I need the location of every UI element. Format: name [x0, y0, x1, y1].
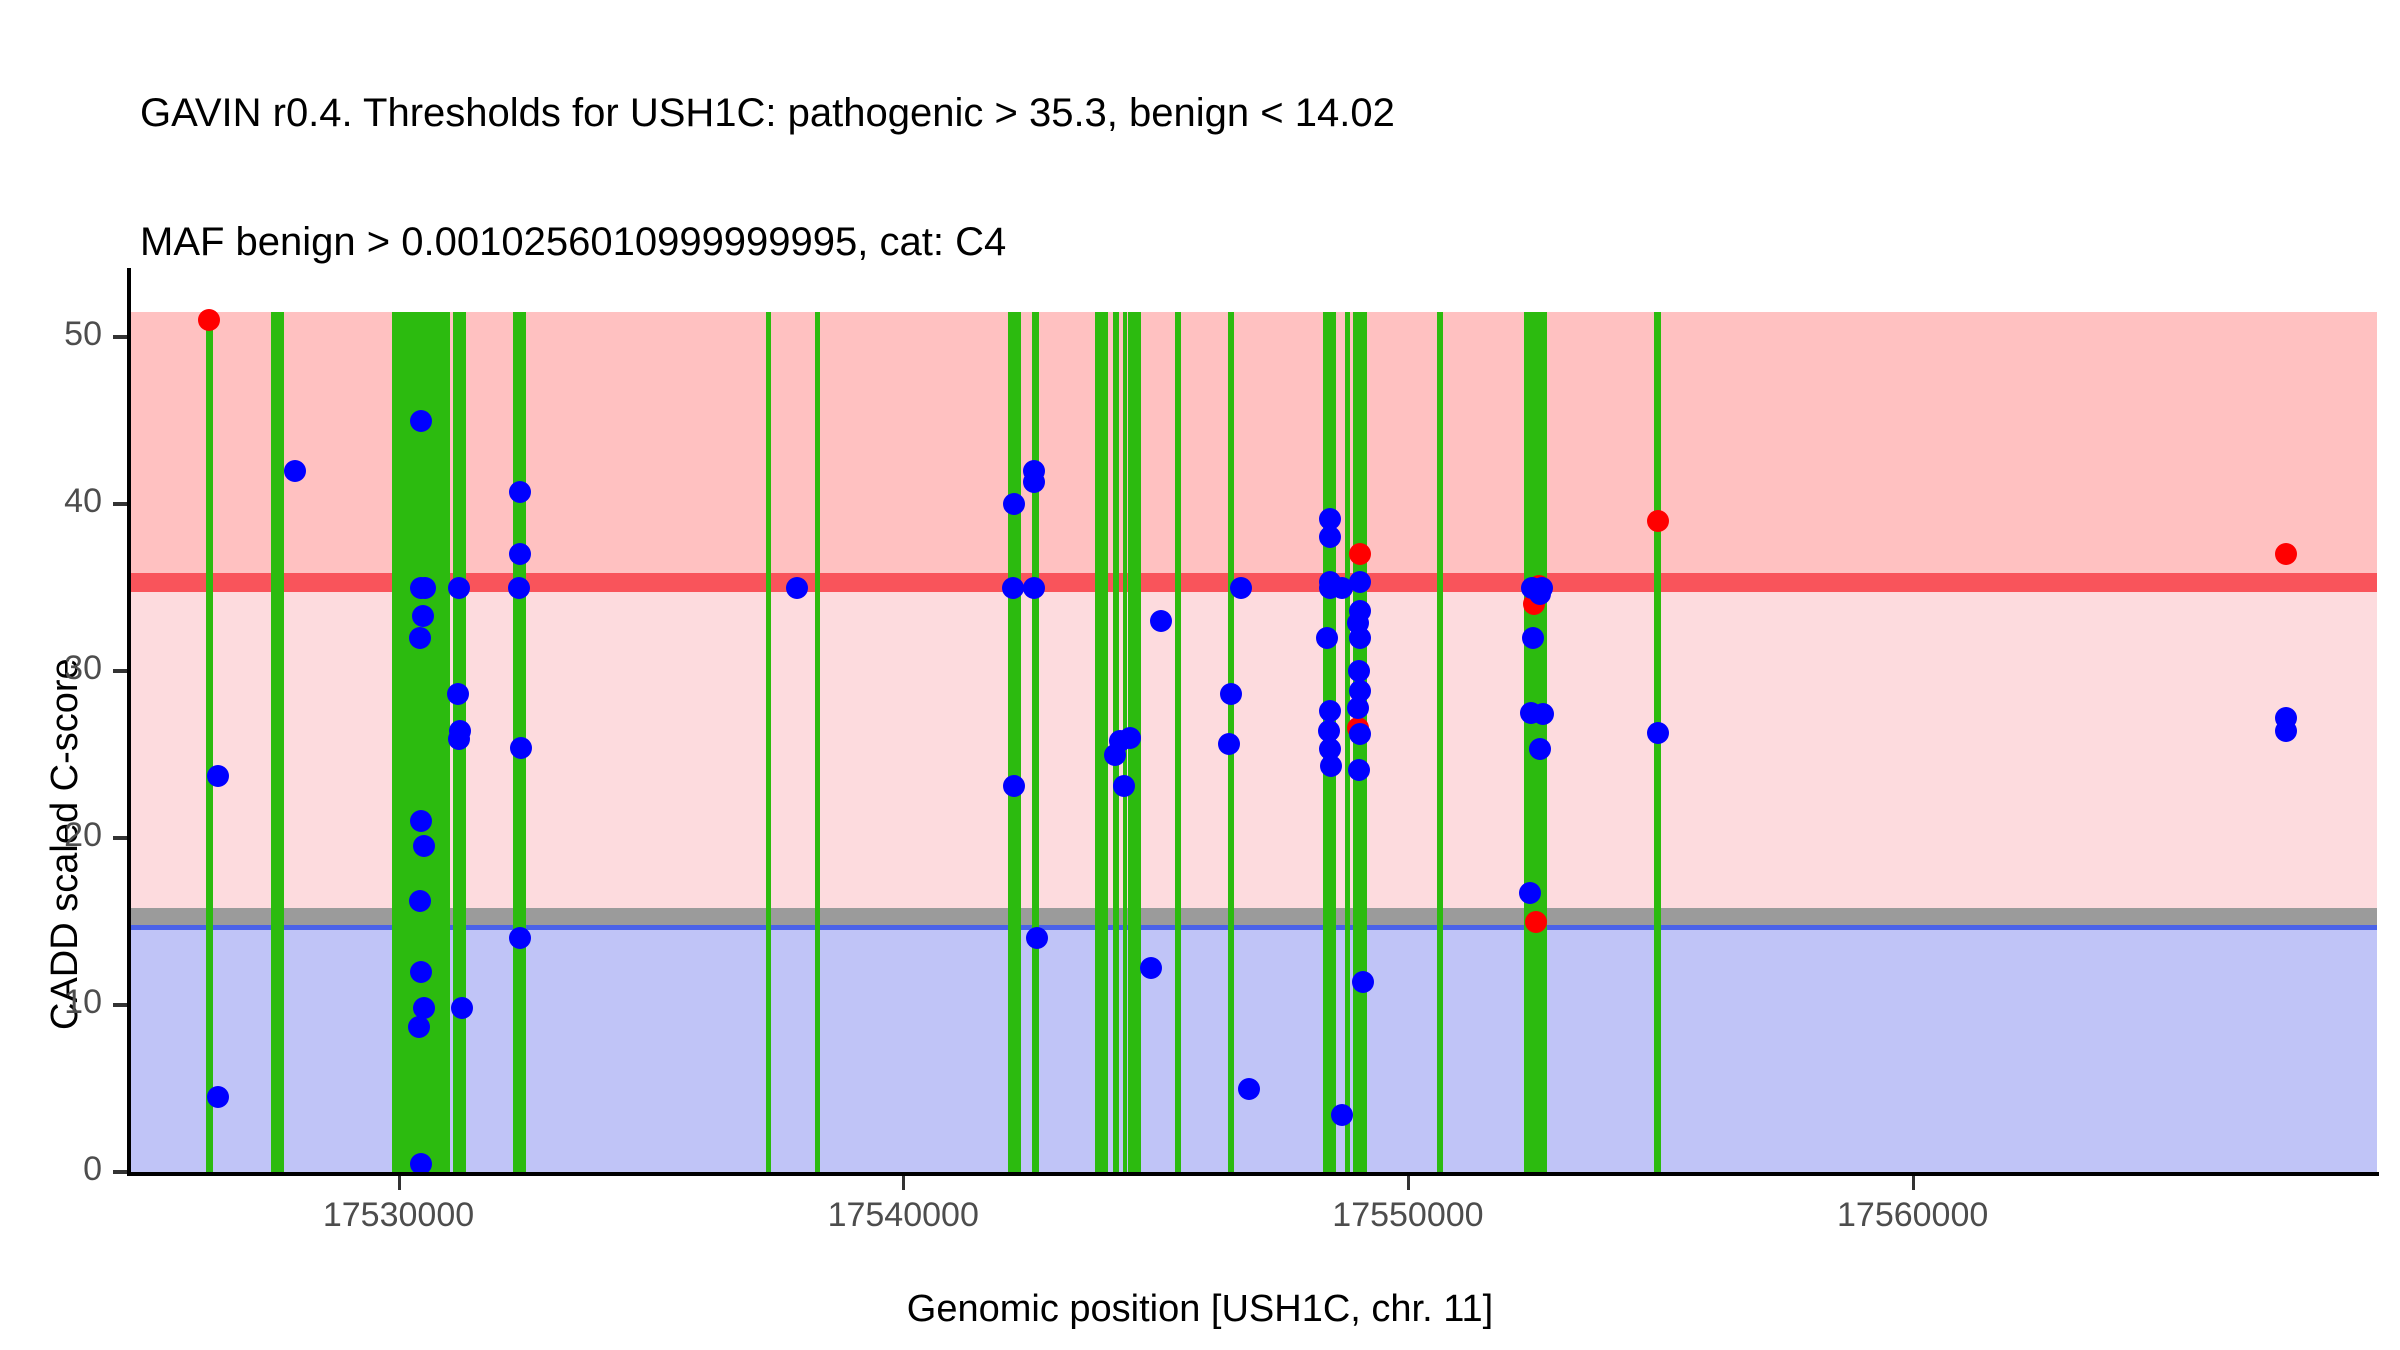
y-tick-label: 30 — [40, 649, 102, 688]
gnomad-variant-point — [448, 577, 470, 599]
y-tick-mark — [113, 669, 127, 673]
exon-line — [1437, 312, 1443, 1172]
exon-line — [1345, 312, 1351, 1172]
y-tick-mark — [113, 1003, 127, 1007]
gnomad-variant-point — [1352, 971, 1374, 993]
exon-line — [766, 312, 770, 1172]
x-tick-mark — [398, 1176, 401, 1190]
gnomad-variant-point — [409, 627, 431, 649]
gnomad-variant-point — [1140, 957, 1162, 979]
y-tick-label: 0 — [40, 1150, 102, 1189]
y-tick-mark — [113, 836, 127, 840]
gnomad-variant-point — [1319, 526, 1341, 548]
y-tick-label: 10 — [40, 983, 102, 1022]
gnomad-variant-point — [408, 1016, 430, 1038]
x-tick-mark — [902, 1176, 905, 1190]
exon-line — [206, 312, 213, 1172]
gnomad-variant-point — [1230, 577, 1252, 599]
gnomad-variant-point — [410, 1153, 432, 1172]
x-axis-title: Genomic position [USH1C, chr. 11] — [0, 1288, 2400, 1331]
gnomad-variant-point — [1316, 627, 1338, 649]
gnomad-variant-point — [414, 577, 436, 599]
exon-line — [1032, 312, 1039, 1172]
gnomad-variant-point — [410, 410, 432, 432]
x-tick-label: 17530000 — [269, 1196, 529, 1235]
exon-line — [1095, 312, 1108, 1172]
x-tick-label: 17560000 — [1783, 1196, 2043, 1235]
clinvar-variant-point — [1525, 911, 1547, 933]
y-axis-title: CADD scaled C-score — [44, 130, 87, 1030]
gnomad-variant-point — [508, 577, 530, 599]
clinvar-variant-point — [1349, 543, 1371, 565]
gnomad-variant-point — [413, 835, 435, 857]
gnomad-variant-point — [1238, 1078, 1260, 1100]
gnomad-variant-point — [207, 1086, 229, 1108]
exon-line — [271, 312, 284, 1172]
x-tick-label: 17540000 — [773, 1196, 1033, 1235]
gnomad-variant-point — [1026, 927, 1048, 949]
threshold-line-genome-wide — [131, 908, 2377, 925]
x-tick-mark — [1407, 1176, 1410, 1190]
band-benign — [131, 930, 2377, 1172]
exon-line — [815, 312, 821, 1172]
gnomad-variant-point — [1348, 660, 1370, 682]
gnomad-variant-point — [1348, 759, 1370, 781]
gnomad-variant-point — [1319, 700, 1341, 722]
clinvar-variant-point — [1647, 510, 1669, 532]
x-tick-mark — [1912, 1176, 1915, 1190]
gnomad-variant-point — [1150, 610, 1172, 632]
exon-line — [1008, 312, 1021, 1172]
chart-root: GAVIN r0.4. Thresholds for USH1C: pathog… — [0, 0, 2400, 1350]
title-line-2: MAF benign > 0.0010256010999999995, cat:… — [140, 221, 2340, 264]
gnomad-variant-point — [510, 737, 532, 759]
gnomad-variant-point — [1023, 577, 1045, 599]
gnomad-variant-point — [451, 997, 473, 1019]
gnomad-variant-point — [509, 481, 531, 503]
x-tick-label: 17550000 — [1278, 1196, 1538, 1235]
title-line-1: GAVIN r0.4. Thresholds for USH1C: pathog… — [140, 92, 2340, 135]
gnomad-variant-point — [509, 927, 531, 949]
gnomad-variant-point — [1349, 627, 1371, 649]
gnomad-variant-point — [412, 605, 434, 627]
y-tick-label: 50 — [40, 315, 102, 354]
gnomad-variant-point — [1320, 755, 1342, 777]
gnomad-variant-point — [1119, 727, 1141, 749]
plot-panel — [131, 272, 2377, 1172]
y-tick-mark — [113, 335, 127, 339]
gnomad-variant-point — [284, 460, 306, 482]
y-tick-label: 20 — [40, 816, 102, 855]
y-tick-label: 40 — [40, 482, 102, 521]
gnomad-variant-point — [207, 765, 229, 787]
exon-line — [1175, 312, 1181, 1172]
x-axis-line — [127, 1172, 2379, 1176]
y-tick-mark — [113, 1170, 127, 1174]
y-axis-line — [127, 268, 131, 1176]
gnomad-variant-point — [1647, 722, 1669, 744]
gnomad-variant-point — [1522, 627, 1544, 649]
band-vus — [131, 592, 2377, 908]
gnomad-variant-point — [509, 543, 531, 565]
gnomad-variant-point — [1002, 577, 1024, 599]
gnomad-variant-point — [786, 577, 808, 599]
band-pathogenic — [131, 312, 2377, 573]
gnomad-variant-point — [410, 961, 432, 983]
y-tick-mark — [113, 502, 127, 506]
